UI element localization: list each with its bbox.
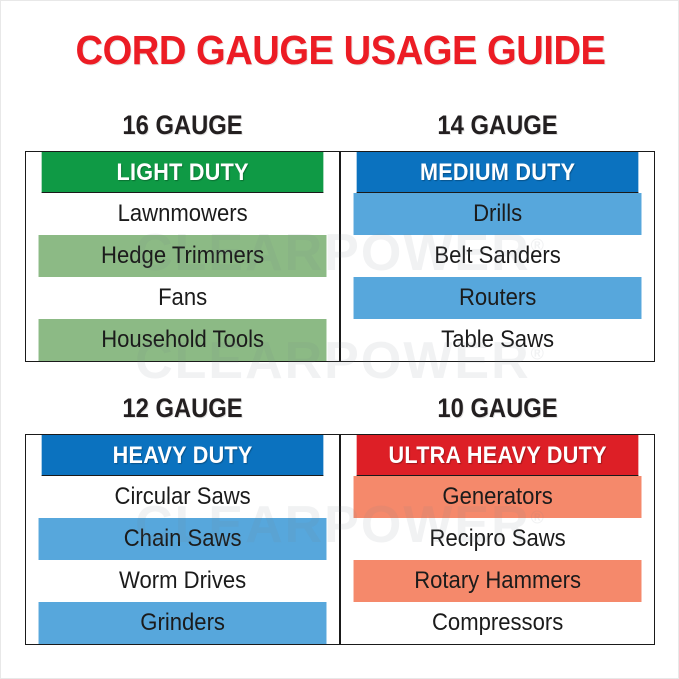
table-row: Hedge Trimmers	[39, 235, 327, 277]
gauge-section-bottom: 12 GAUGE 10 GAUGE HEAVY DUTY Circular Sa…	[25, 390, 655, 645]
table-row: Recipro Saws	[353, 518, 641, 560]
table-row: Belt Sanders	[353, 235, 641, 277]
duty-header-heavy-duty: HEAVY DUTY	[42, 435, 324, 476]
table-row: Worm Drives	[39, 560, 327, 602]
table-row: Grinders	[39, 602, 327, 644]
duty-header-light-duty: LIGHT DUTY	[42, 152, 324, 193]
table-row: Circular Saws	[39, 476, 327, 518]
gauge-tables-row-bottom: HEAVY DUTY Circular Saws Chain Saws Worm…	[25, 434, 655, 645]
gauge-label-row: 12 GAUGE 10 GAUGE	[25, 390, 655, 434]
gauge-table-14: MEDIUM DUTY Drills Belt Sanders Routers …	[341, 152, 654, 361]
table-row: Drills	[353, 193, 641, 235]
table-row: Lawnmowers	[39, 193, 327, 235]
gauge-label-row: 16 GAUGE 14 GAUGE	[25, 107, 655, 151]
gauge-table-12: HEAVY DUTY Circular Saws Chain Saws Worm…	[26, 435, 339, 644]
gauge-tables-row-top: LIGHT DUTY Lawnmowers Hedge Trimmers Fan…	[25, 151, 655, 362]
gauge-table-10: ULTRA HEAVY DUTY Generators Recipro Saws…	[341, 435, 654, 644]
table-row: Generators	[353, 476, 641, 518]
gauge-label-16: 16 GAUGE	[44, 107, 321, 151]
gauge-label-14: 14 GAUGE	[359, 107, 636, 151]
gauge-label-12: 12 GAUGE	[44, 390, 321, 434]
infographic-page: CORD GAUGE USAGE GUIDE CLEARPOWER® CLEAR…	[0, 0, 679, 679]
duty-header-medium-duty: MEDIUM DUTY	[356, 152, 638, 193]
table-row: Household Tools	[39, 319, 327, 361]
table-row: Routers	[353, 277, 641, 319]
table-row: Compressors	[353, 602, 641, 644]
table-row: Fans	[39, 277, 327, 319]
duty-header-ultra-heavy-duty: ULTRA HEAVY DUTY	[356, 435, 638, 476]
table-row: Rotary Hammers	[353, 560, 641, 602]
page-title: CORD GAUGE USAGE GUIDE	[25, 27, 656, 74]
table-row: Chain Saws	[39, 518, 327, 560]
gauge-label-10: 10 GAUGE	[359, 390, 636, 434]
gauge-section-top: 16 GAUGE 14 GAUGE LIGHT DUTY Lawnmowers …	[25, 107, 655, 362]
table-row: Table Saws	[353, 319, 641, 361]
gauge-table-16: LIGHT DUTY Lawnmowers Hedge Trimmers Fan…	[26, 152, 339, 361]
